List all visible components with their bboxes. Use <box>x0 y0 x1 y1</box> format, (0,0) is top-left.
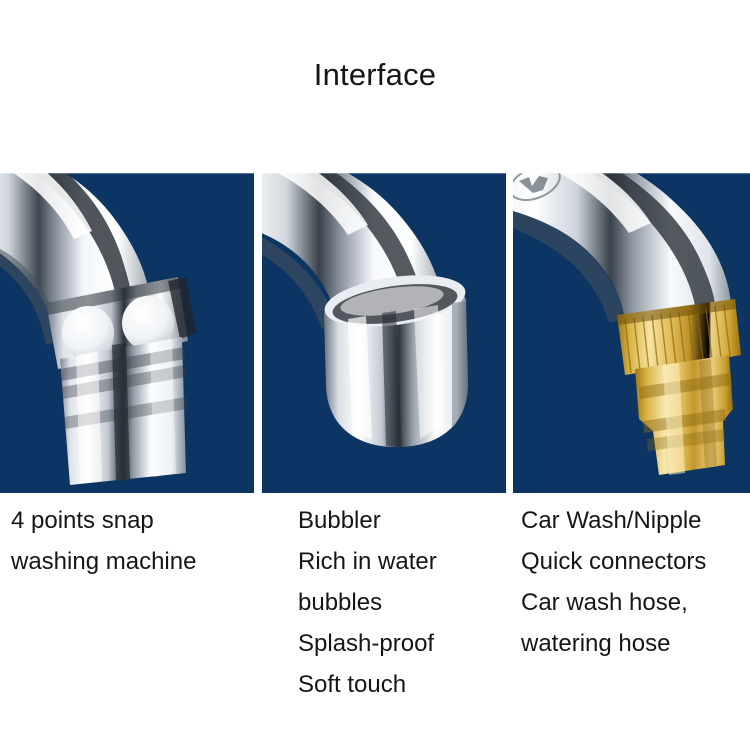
caption-line: bubbles <box>298 582 508 623</box>
caption-row: 4 points snap washing machine Bubbler Ri… <box>0 500 750 750</box>
caption-line: Rich in water <box>298 541 508 582</box>
caption-line: Soft touch <box>298 664 508 705</box>
caption-line: 4 points snap <box>11 500 251 541</box>
caption-line: washing machine <box>11 541 251 582</box>
caption-line: watering hose <box>521 623 750 664</box>
caption-snap-adapter: 4 points snap washing machine <box>11 500 251 582</box>
caption-line: Car Wash/Nipple <box>521 500 750 541</box>
faucet-with-bubbler-aerator-image <box>262 173 506 493</box>
image-panel-snap-adapter <box>0 173 254 493</box>
caption-line: Car wash hose, <box>521 582 750 623</box>
caption-car-wash-nipple: Car Wash/Nipple Quick connectors Car was… <box>521 500 750 664</box>
caption-bubbler: Bubbler Rich in water bubbles Splash-pro… <box>298 500 508 705</box>
caption-line: Bubbler <box>298 500 508 541</box>
page-title: Interface <box>0 56 750 94</box>
caption-line: Quick connectors <box>521 541 750 582</box>
image-panel-bubbler <box>262 173 506 493</box>
panel-strip <box>0 173 750 493</box>
product-infographic: Interface <box>0 0 750 750</box>
faucet-with-4-point-snap-adapter-image <box>0 173 254 493</box>
faucet-with-brass-nipple-connector-image <box>513 173 750 493</box>
image-panel-car-wash-nipple <box>513 173 750 493</box>
caption-line: Splash-proof <box>298 623 508 664</box>
